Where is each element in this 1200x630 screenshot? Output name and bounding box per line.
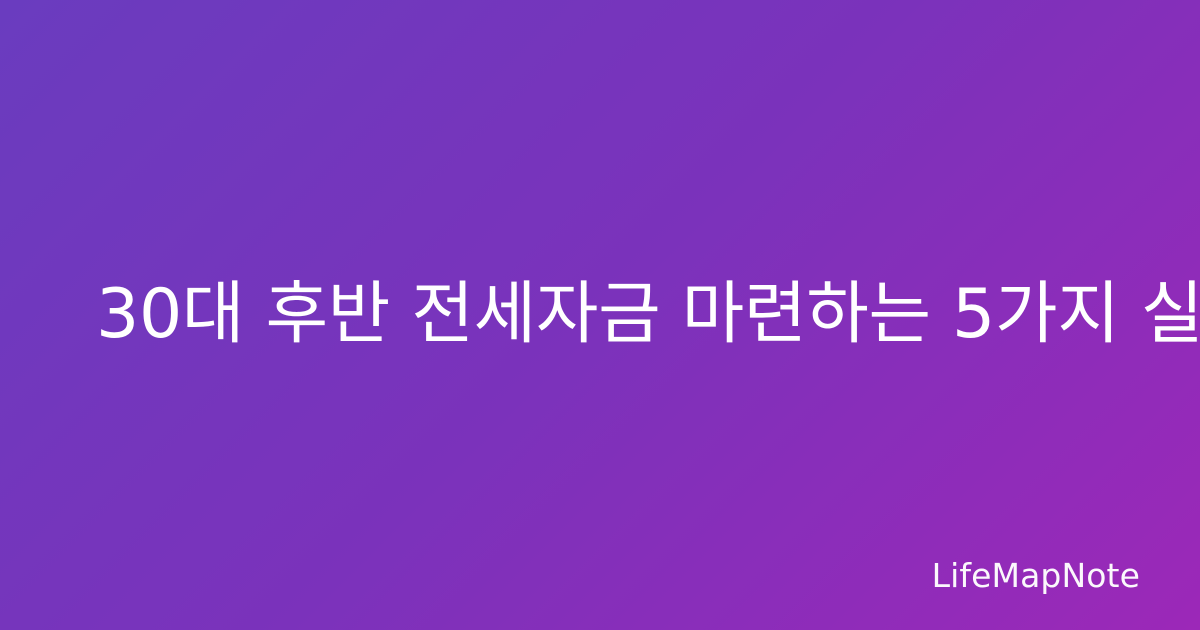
- page-title: 30대 후반 전세자금 마련하는 5가지 실전: [96, 275, 1200, 355]
- title-container: 30대 후반 전세자금 마련하는 5가지 실전: [0, 0, 1200, 630]
- brand-watermark: LifeMapNote: [932, 559, 1140, 592]
- social-share-card: 30대 후반 전세자금 마련하는 5가지 실전 LifeMapNote: [0, 0, 1200, 630]
